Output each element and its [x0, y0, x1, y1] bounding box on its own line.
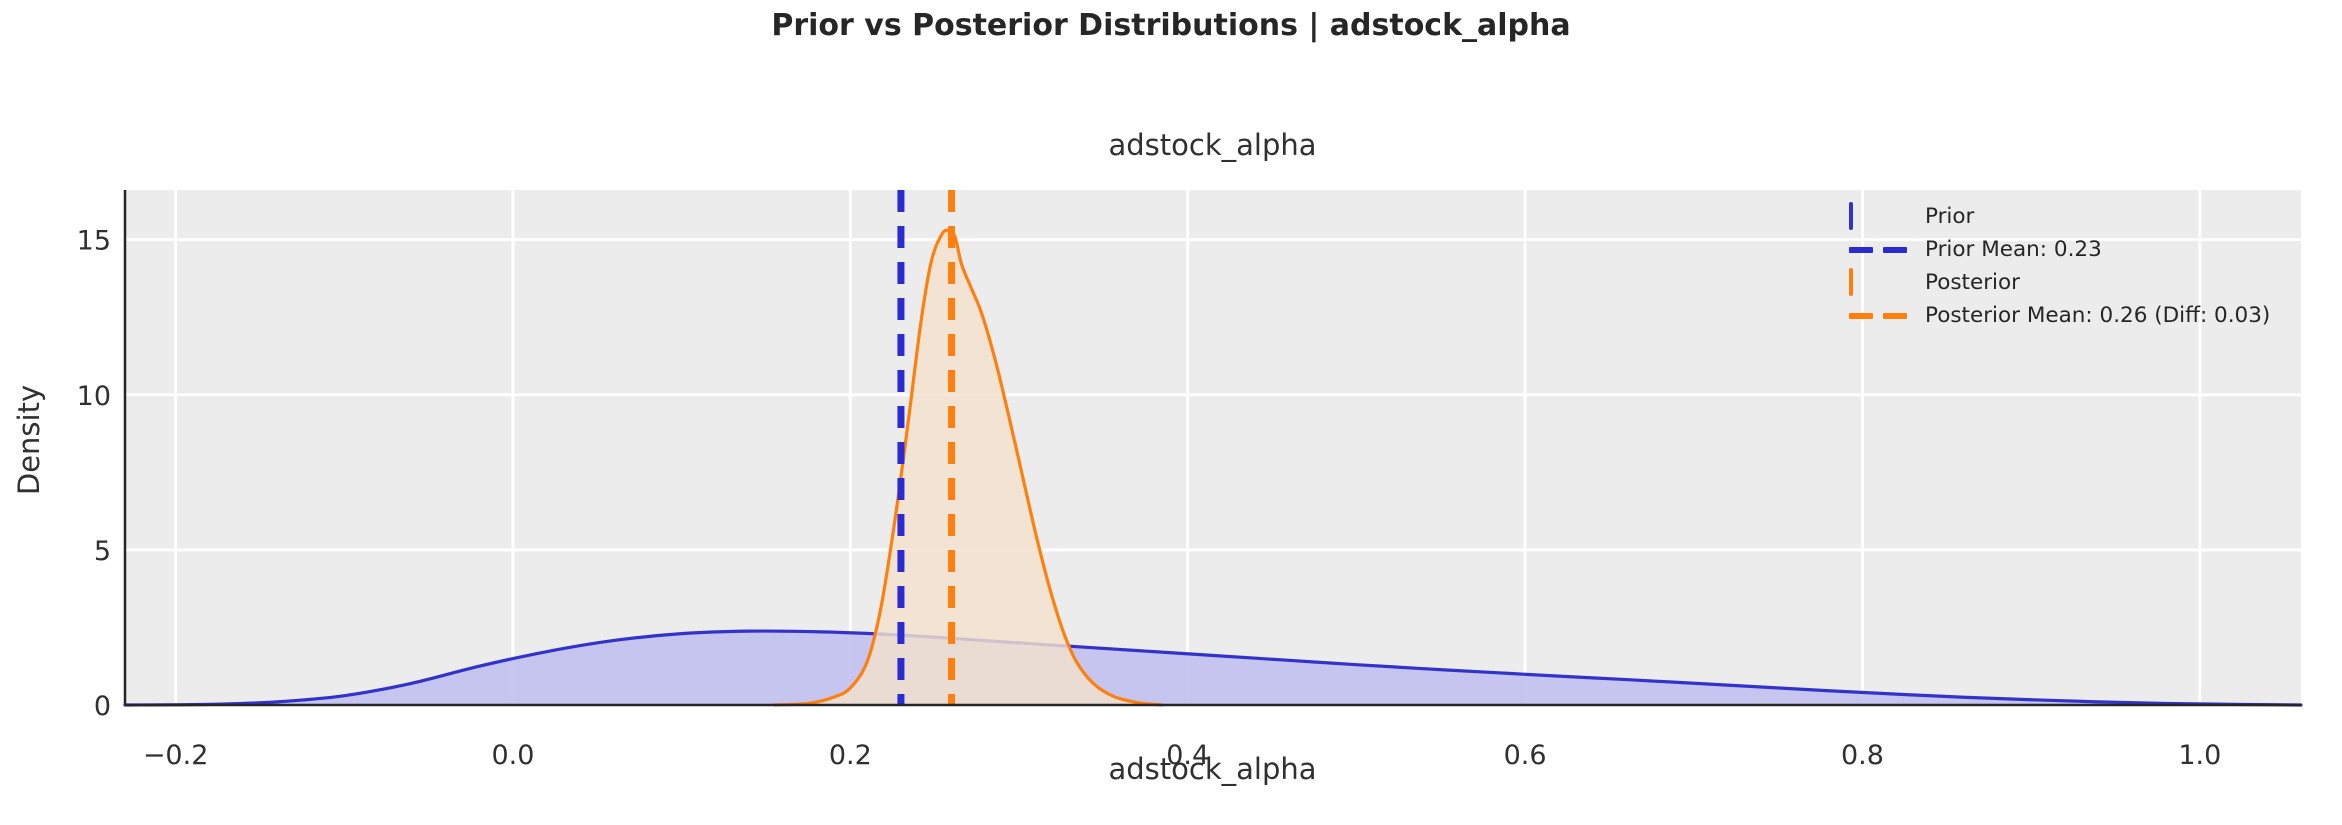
legend-label-posterior: Posterior — [1925, 272, 2020, 294]
legend-item-prior-mean[interactable]: Prior Mean: 0.23 — [1849, 233, 2270, 266]
y-tick-label: 0 — [94, 691, 111, 722]
x-tick-label: 1.0 — [2178, 740, 2221, 771]
y-tick-label: 15 — [77, 226, 111, 257]
legend-item-posterior-mean[interactable]: Posterior Mean: 0.26 (Diff: 0.03) — [1849, 299, 2270, 332]
x-tick-label: −0.2 — [143, 740, 209, 771]
plot-svg: −0.20.00.20.40.60.81.0051015 — [0, 0, 2342, 825]
legend-item-posterior[interactable]: Posterior — [1849, 266, 2270, 299]
y-tick-label: 5 — [94, 536, 111, 567]
y-tick-label: 10 — [77, 381, 111, 412]
legend-dash-posterior-mean — [1849, 303, 1911, 329]
legend-label-posterior-mean: Posterior Mean: 0.26 (Diff: 0.03) — [1925, 305, 2270, 327]
legend-dash-prior-mean — [1849, 237, 1911, 263]
chart-legend: Prior Prior Mean: 0.23 Posterior Posteri… — [1843, 196, 2276, 338]
legend-label-prior-mean: Prior Mean: 0.23 — [1925, 239, 2102, 261]
legend-item-prior[interactable]: Prior — [1849, 200, 2270, 233]
x-tick-label: 0.6 — [1504, 740, 1547, 771]
legend-swatch-posterior — [1849, 270, 1911, 296]
legend-label-prior: Prior — [1925, 206, 1974, 228]
legend-swatch-prior — [1849, 204, 1911, 230]
x-tick-label: 0.8 — [1841, 740, 1884, 771]
x-tick-label: 0.2 — [829, 740, 872, 771]
x-tick-label: 0.0 — [491, 740, 534, 771]
x-tick-label: 0.4 — [1166, 740, 1209, 771]
figure-canvas: Prior vs Posterior Distributions | adsto… — [0, 0, 2342, 825]
